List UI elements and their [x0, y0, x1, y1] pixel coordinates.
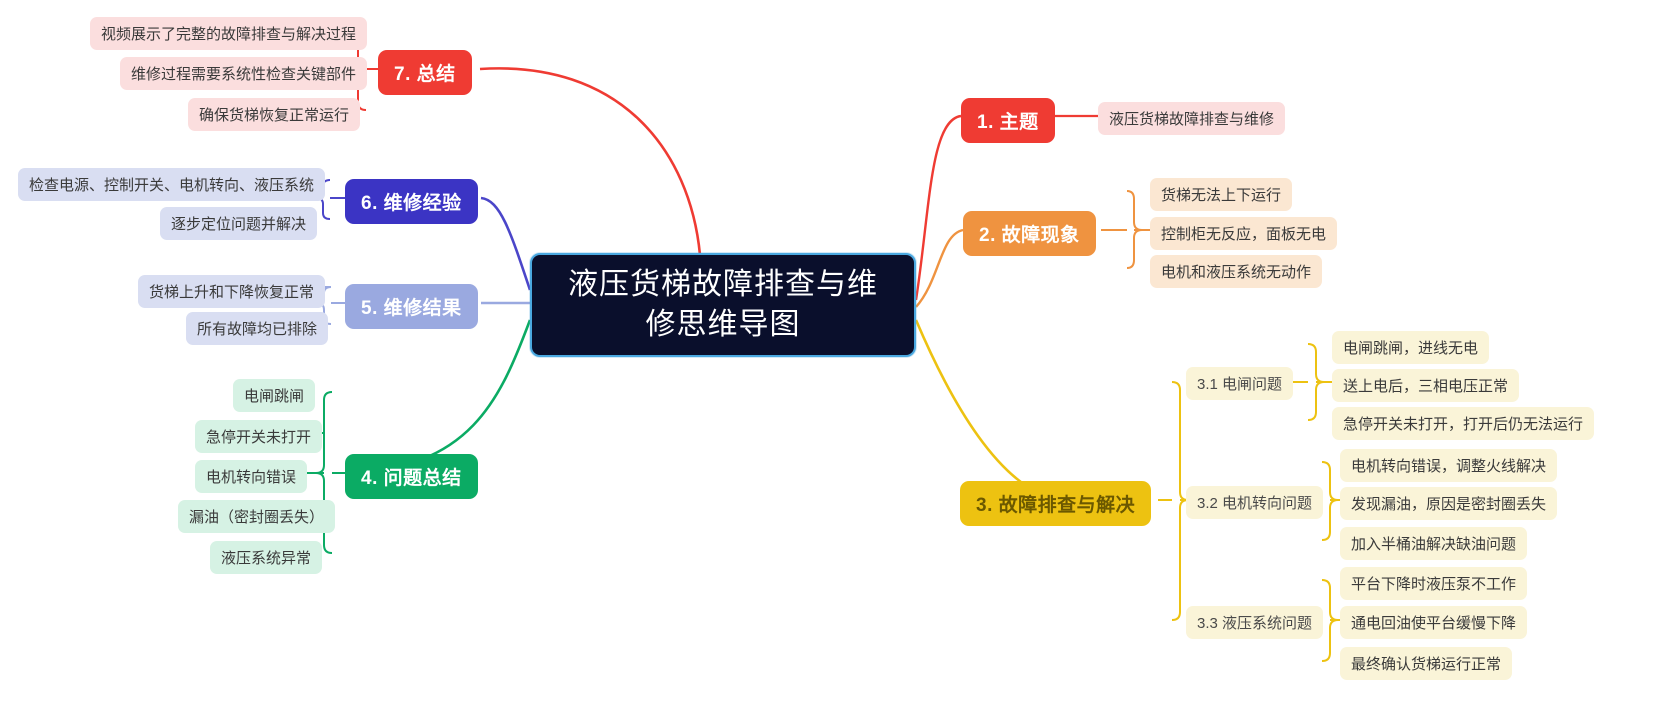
repair-experience-item-0[interactable]: 检查电源、控制开关、电机转向、液压系统 — [18, 168, 325, 201]
repair-result-item-1-label: 所有故障均已排除 — [197, 318, 317, 339]
diagnosis-group-0[interactable]: 3.1 电闸问题 — [1186, 367, 1293, 400]
branch-conclusion[interactable]: 7. 总结 — [378, 50, 472, 95]
diagnosis-1-item-2-label: 加入半桶油解决缺油问题 — [1351, 533, 1516, 554]
symptoms-item-1-label: 控制柜无反应，面板无电 — [1161, 223, 1326, 244]
branch-conclusion-label: 7. 总结 — [394, 59, 456, 86]
diagnosis-2-item-1-label: 通电回油使平台缓慢下降 — [1351, 612, 1516, 633]
symptoms-item-2[interactable]: 电机和液压系统无动作 — [1150, 255, 1322, 288]
problem-summary-item-2[interactable]: 电机转向错误 — [195, 460, 307, 493]
symptoms-item-1[interactable]: 控制柜无反应，面板无电 — [1150, 217, 1337, 250]
conclusion-item-0[interactable]: 视频展示了完整的故障排查与解决过程 — [90, 17, 367, 50]
problem-summary-item-4[interactable]: 液压系统异常 — [210, 541, 322, 574]
diagnosis-2-item-0-label: 平台下降时液压泵不工作 — [1351, 573, 1516, 594]
diagnosis-0-item-1-label: 送上电后，三相电压正常 — [1343, 375, 1508, 396]
branch-symptoms[interactable]: 2. 故障现象 — [963, 211, 1096, 256]
root-title-line2: 修思维导图 — [646, 305, 801, 345]
diagnosis-2-item-1[interactable]: 通电回油使平台缓慢下降 — [1340, 606, 1527, 639]
problem-summary-item-3-label: 漏油（密封圈丢失） — [189, 506, 324, 527]
diagnosis-group-1[interactable]: 3.2 电机转向问题 — [1186, 486, 1323, 519]
diagnosis-group-0-label: 3.1 电闸问题 — [1197, 373, 1282, 394]
branch-repair-result-label: 5. 维修结果 — [361, 293, 462, 320]
repair-result-item-0-label: 货梯上升和下降恢复正常 — [149, 281, 314, 302]
conclusion-item-2[interactable]: 确保货梯恢复正常运行 — [188, 98, 360, 131]
problem-summary-item-4-label: 液压系统异常 — [221, 547, 311, 568]
repair-experience-item-1[interactable]: 逐步定位问题并解决 — [160, 207, 317, 240]
diagnosis-0-item-1[interactable]: 送上电后，三相电压正常 — [1332, 369, 1519, 402]
branch-repair-experience-label: 6. 维修经验 — [361, 188, 462, 215]
diagnosis-group-2-label: 3.3 液压系统问题 — [1197, 612, 1312, 633]
diagnosis-2-item-0[interactable]: 平台下降时液压泵不工作 — [1340, 567, 1527, 600]
repair-experience-item-1-label: 逐步定位问题并解决 — [171, 213, 306, 234]
diagnosis-group-1-label: 3.2 电机转向问题 — [1197, 492, 1312, 513]
problem-summary-item-2-label: 电机转向错误 — [206, 466, 296, 487]
repair-result-item-1[interactable]: 所有故障均已排除 — [186, 312, 328, 345]
problem-summary-item-1[interactable]: 急停开关未打开 — [195, 420, 322, 453]
diagnosis-0-item-0[interactable]: 电闸跳闸，进线无电 — [1332, 331, 1489, 364]
diagnosis-0-item-2-label: 急停开关未打开，打开后仍无法运行 — [1343, 413, 1583, 434]
problem-summary-item-3[interactable]: 漏油（密封圈丢失） — [178, 500, 335, 533]
root-node[interactable]: 液压货梯故障排查与维 修思维导图 — [530, 253, 916, 357]
diagnosis-group-2[interactable]: 3.3 液压系统问题 — [1186, 606, 1323, 639]
branch-diagnosis[interactable]: 3. 故障排查与解决 — [960, 481, 1151, 526]
root-title-line1: 液压货梯故障排查与维 — [568, 265, 878, 305]
branch-topic[interactable]: 1. 主题 — [961, 98, 1055, 143]
problem-summary-item-0-label: 电闸跳闸 — [244, 385, 304, 406]
problem-summary-item-0[interactable]: 电闸跳闸 — [233, 379, 315, 412]
problem-summary-item-1-label: 急停开关未打开 — [206, 426, 311, 447]
branch-diagnosis-label: 3. 故障排查与解决 — [976, 490, 1135, 517]
branch-symptoms-label: 2. 故障现象 — [979, 220, 1080, 247]
diagnosis-2-item-2[interactable]: 最终确认货梯运行正常 — [1340, 647, 1512, 680]
topic-item-0[interactable]: 液压货梯故障排查与维修 — [1098, 102, 1285, 135]
branch-repair-experience[interactable]: 6. 维修经验 — [345, 179, 478, 224]
diagnosis-1-item-1-label: 发现漏油，原因是密封圈丢失 — [1351, 493, 1546, 514]
diagnosis-1-item-0-label: 电机转向错误，调整火线解决 — [1351, 455, 1546, 476]
branch-problem-summary-label: 4. 问题总结 — [361, 463, 462, 490]
diagnosis-0-item-0-label: 电闸跳闸，进线无电 — [1343, 337, 1478, 358]
conclusion-item-0-label: 视频展示了完整的故障排查与解决过程 — [101, 23, 356, 44]
symptoms-item-0[interactable]: 货梯无法上下运行 — [1150, 178, 1292, 211]
diagnosis-2-item-2-label: 最终确认货梯运行正常 — [1351, 653, 1501, 674]
conclusion-item-2-label: 确保货梯恢复正常运行 — [199, 104, 349, 125]
topic-item-0-label: 液压货梯故障排查与维修 — [1109, 108, 1274, 129]
branch-problem-summary[interactable]: 4. 问题总结 — [345, 454, 478, 499]
branch-topic-label: 1. 主题 — [977, 107, 1039, 134]
mindmap-canvas: 液压货梯故障排查与维 修思维导图 1. 主题 液压货梯故障排查与维修 2. 故障… — [0, 0, 1674, 725]
symptoms-item-0-label: 货梯无法上下运行 — [1161, 184, 1281, 205]
conclusion-item-1-label: 维修过程需要系统性检查关键部件 — [131, 63, 356, 84]
diagnosis-0-item-2[interactable]: 急停开关未打开，打开后仍无法运行 — [1332, 407, 1594, 440]
diagnosis-1-item-2[interactable]: 加入半桶油解决缺油问题 — [1340, 527, 1527, 560]
repair-experience-item-0-label: 检查电源、控制开关、电机转向、液压系统 — [29, 174, 314, 195]
repair-result-item-0[interactable]: 货梯上升和下降恢复正常 — [138, 275, 325, 308]
diagnosis-1-item-0[interactable]: 电机转向错误，调整火线解决 — [1340, 449, 1557, 482]
symptoms-item-2-label: 电机和液压系统无动作 — [1161, 261, 1311, 282]
diagnosis-1-item-1[interactable]: 发现漏油，原因是密封圈丢失 — [1340, 487, 1557, 520]
branch-repair-result[interactable]: 5. 维修结果 — [345, 284, 478, 329]
conclusion-item-1[interactable]: 维修过程需要系统性检查关键部件 — [120, 57, 367, 90]
